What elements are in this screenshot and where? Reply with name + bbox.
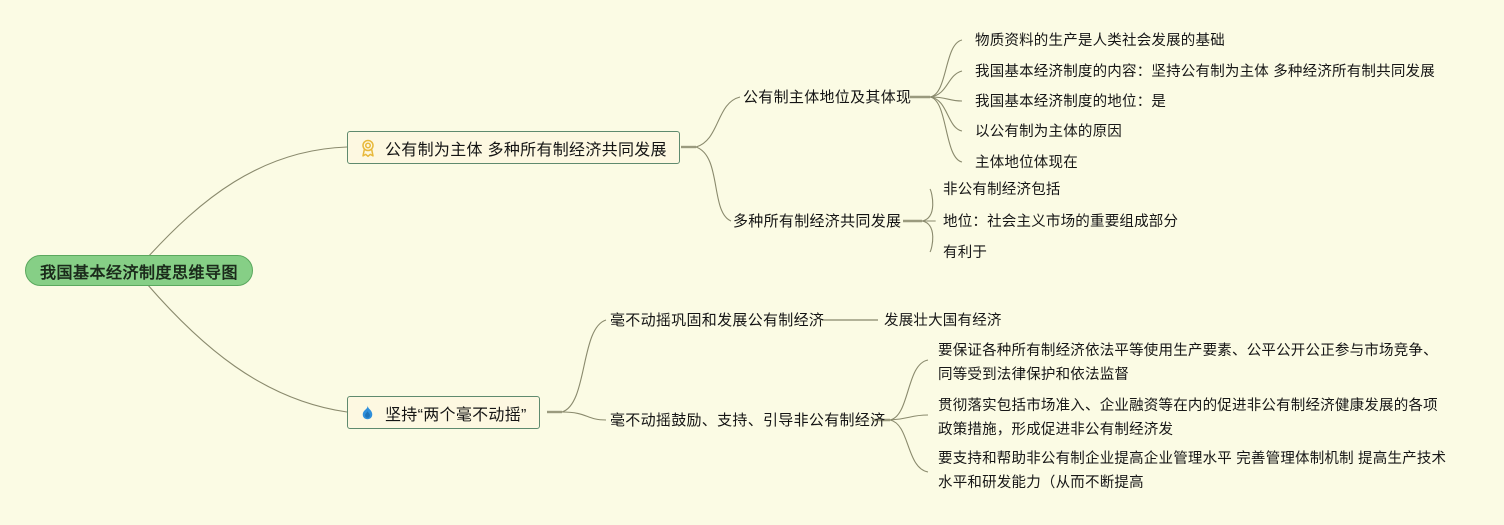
branch-node-gongyouzhi[interactable]: 公有制为主体 多种所有制经济共同发展 <box>347 131 680 164</box>
leaf-node[interactable]: 我国基本经济制度的内容：坚持公有制为主体 多种经济所有制共同发展 <box>975 62 1435 83</box>
edge-root-to-gongyouzhi <box>147 147 347 258</box>
leaf-node[interactable]: 我国基本经济制度的地位：是 <box>975 92 1166 113</box>
root-node[interactable]: 我国基本经济制度思维导图 <box>25 255 253 286</box>
flame-icon <box>357 402 378 423</box>
leaf-node[interactable]: 主体地位体现在 <box>975 153 1078 174</box>
subtopic-gongyouzhi-zhuti[interactable]: 公有制主体地位及其体现 <box>743 88 911 108</box>
leaf-node[interactable]: 要支持和帮助非公有制企业提高企业管理水平 完善管理体制机制 提高生产技术水平和研… <box>938 447 1450 495</box>
edge-lg-to-guli <box>562 412 606 420</box>
edge-gy-to-zhuti <box>696 97 740 147</box>
edge-lg-to-gonggu <box>562 320 606 412</box>
leaf-node[interactable]: 物质资料的生产是人类社会发展的基础 <box>975 31 1225 52</box>
edge-zhuti-leaf3 <box>930 97 962 101</box>
root-node-label: 我国基本经济制度思维导图 <box>40 259 238 283</box>
branch-node-liangge-label: 坚持“两个毫不动摇” <box>385 401 527 425</box>
subtopic-guli-zhichi[interactable]: 毫不动摇鼓励、支持、引导非公有制经济 <box>610 411 885 431</box>
edge-guli-leaf2 <box>890 415 928 420</box>
leaf-node[interactable]: 要保证各种所有制经济依法平等使用生产要素、公平公开公正参与市场竞争、同等受到法律… <box>938 339 1450 387</box>
leaf-node[interactable]: 贯彻落实包括市场准入、企业融资等在内的促进非公有制经济健康发展的各项政策措施，形… <box>938 394 1450 442</box>
subtopic-gonggu-fazhan[interactable]: 毫不动摇巩固和发展公有制经济 <box>610 311 824 331</box>
subtopic-duozhong-suoyouzhi[interactable]: 多种所有制经济共同发展 <box>733 212 901 232</box>
branch-node-liangge[interactable]: 坚持“两个毫不动摇” <box>347 396 540 429</box>
leaf-node[interactable]: 以公有制为主体的原因 <box>975 122 1122 143</box>
leaf-node[interactable]: 地位：社会主义市场的重要组成部分 <box>943 212 1178 233</box>
leaf-node[interactable]: 发展壮大国有经济 <box>884 311 1002 332</box>
edge-root-to-liangge <box>147 284 347 412</box>
edge-zhuti-leaf1 <box>930 40 962 97</box>
edge-guli-leaf1 <box>890 360 928 420</box>
edge-gy-to-duozhong <box>696 147 731 221</box>
mindmap-canvas: 我国基本经济制度思维导图 公有制为主体 多种所有制经济共同发展 坚持“两个毫不动… <box>0 0 1504 525</box>
medal-icon <box>357 137 378 158</box>
edge-zhuti-leaf5 <box>930 97 962 162</box>
leaf-node[interactable]: 有利于 <box>943 243 987 264</box>
edge-dz-leaf1 <box>922 189 933 221</box>
leaf-node[interactable]: 非公有制经济包括 <box>943 180 1061 201</box>
edge-zhuti-leaf4 <box>930 97 962 131</box>
branch-node-gongyouzhi-label: 公有制为主体 多种所有制经济共同发展 <box>385 136 667 160</box>
edge-dz-leaf3 <box>922 221 933 252</box>
edge-guli-leaf3 <box>890 420 928 472</box>
edge-zhuti-leaf2 <box>930 71 962 97</box>
